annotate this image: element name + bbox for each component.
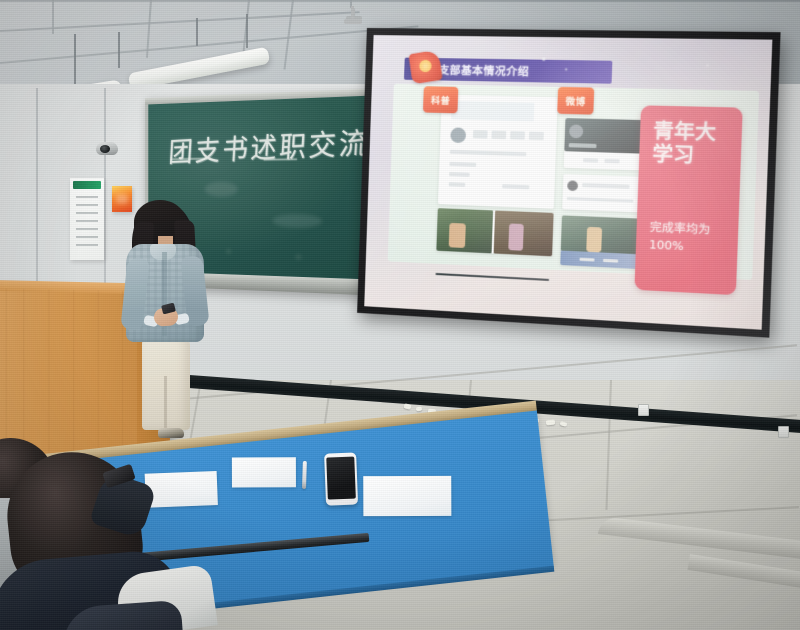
wall-outlet-left[interactable] xyxy=(638,404,649,416)
floor-debris-6 xyxy=(546,420,555,426)
light-suspension-rod-far xyxy=(196,18,198,46)
slide-highlight-card: 青年大 学习 完成率均为 100% xyxy=(634,105,742,295)
screenshot-mid-top xyxy=(564,118,643,170)
slide-header: 支部基本情况介绍 xyxy=(404,58,612,84)
slide-badge-label-0: 科普 xyxy=(431,93,451,107)
projector-mount-arm xyxy=(344,6,362,32)
ballpoint-pen xyxy=(302,461,307,489)
screenshot-mid-list xyxy=(562,174,640,212)
notice-sheet xyxy=(70,178,104,260)
dome-security-camera xyxy=(96,140,122,156)
projection-screen: 科普 微博 青年大 学习 完成率均为 100% xyxy=(357,28,781,338)
party-flag-icon xyxy=(408,50,442,85)
screenshot-left-photo xyxy=(436,208,553,256)
slide-highlight-title: 青年大 学习 xyxy=(652,120,733,169)
presentation-slide: 科普 微博 青年大 学习 完成率均为 100% xyxy=(384,57,760,280)
slide-header-title: 支部基本情况介绍 xyxy=(438,62,529,79)
blackboard-chalk-text: 团支书述职交流 xyxy=(168,118,372,170)
presenter-shoe xyxy=(158,428,184,438)
screenshot-mid-photo xyxy=(560,215,643,269)
slide-badge-label-1: 微博 xyxy=(565,94,586,108)
presenter xyxy=(118,196,214,446)
slide-highlight-subtitle-line2: 100% xyxy=(649,236,729,257)
slide-highlight-subtitle: 完成率均为 100% xyxy=(649,219,730,257)
paper-sheet-center xyxy=(232,457,296,487)
light-suspension-rod-right xyxy=(246,14,248,48)
wall-outlet-right[interactable] xyxy=(778,426,789,438)
slide-divider-left xyxy=(435,273,549,281)
slide-body: 科普 微博 青年大 学习 完成率均为 100% xyxy=(388,84,759,280)
classroom-photo: 团支书述职交流 xyxy=(0,0,800,630)
white-smartphone[interactable] xyxy=(324,452,358,505)
slide-badge-0: 科普 xyxy=(423,86,458,113)
paper-sheet-right xyxy=(363,476,451,516)
paper-sheet-left xyxy=(145,471,218,508)
slide-badge-1: 微博 xyxy=(557,87,594,115)
light-suspension-rod-mid xyxy=(118,32,120,68)
wall-seam-right xyxy=(104,88,106,302)
